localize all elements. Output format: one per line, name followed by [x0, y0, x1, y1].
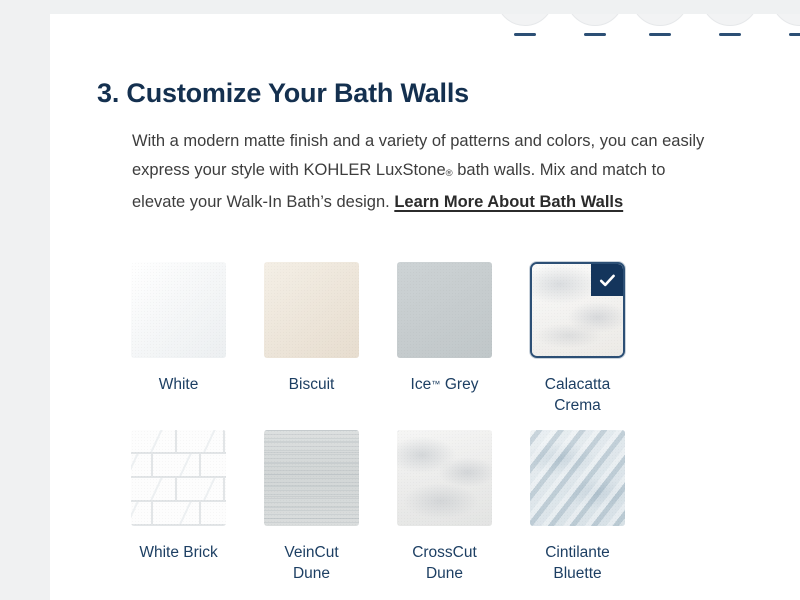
- swatch-row: WhiteBiscuitIce™ GreyCalacatta Crema: [131, 262, 721, 416]
- step-bubble-1-underline: [514, 33, 536, 36]
- swatch-label-veincut-dune: VeinCut Dune: [264, 542, 359, 584]
- swatch-label-white-brick: White Brick: [131, 542, 226, 563]
- swatch-label-biscuit: Biscuit: [264, 374, 359, 395]
- brick-row: [131, 478, 226, 500]
- page-title: 3. Customize Your Bath Walls: [97, 76, 469, 110]
- registered-trademark-symbol: ®: [446, 168, 453, 179]
- swatch-label-main-biscuit: Biscuit: [289, 376, 335, 393]
- swatch-option-calacatta-crema[interactable]: Calacatta Crema: [530, 262, 625, 416]
- section-description: With a modern matte finish and a variety…: [132, 127, 712, 217]
- swatch-tile-white-brick: [131, 430, 226, 526]
- swatch-option-white[interactable]: White: [131, 262, 226, 416]
- swatch-option-biscuit[interactable]: Biscuit: [264, 262, 359, 416]
- swatch-label-cintilante-bluette: Cintilante Bluette: [530, 542, 625, 584]
- swatch-tile-wrap-white-brick: [131, 430, 226, 526]
- brick-row: [131, 430, 226, 452]
- swatch-option-cintilante-bluette[interactable]: Cintilante Bluette: [530, 430, 625, 584]
- step-bubble-2-underline: [584, 33, 606, 36]
- step-bubble-2[interactable]: [566, 14, 624, 26]
- brick-row: [131, 502, 226, 524]
- step-progress-bubbles: [100, 14, 800, 36]
- swatch-tile-wrap-white: [131, 262, 226, 358]
- swatch-label-suffix-cintilante-bluette: Bluette: [553, 565, 601, 582]
- swatch-option-crosscut-dune[interactable]: CrossCut Dune: [397, 430, 492, 584]
- swatch-label-suffix-calacatta-crema: Crema: [554, 397, 601, 414]
- swatch-label-suffix-white-brick: Brick: [179, 544, 218, 561]
- swatch-option-veincut-dune[interactable]: VeinCut Dune: [264, 430, 359, 584]
- swatch-label-main-ice-grey: Ice: [411, 376, 432, 393]
- swatch-tile-wrap-crosscut-dune: [397, 430, 492, 526]
- swatch-tile-white: [131, 262, 226, 358]
- brick-rows-white-brick: [131, 430, 226, 526]
- swatch-row: White BrickVeinCut DuneCrossCut DuneCint…: [131, 430, 721, 584]
- swatch-tile-wrap-biscuit: [264, 262, 359, 358]
- swatch-label-crosscut-dune: CrossCut Dune: [397, 542, 492, 584]
- page-left-gutter: [0, 0, 50, 600]
- swatch-label-main-crosscut-dune: CrossCut: [412, 544, 477, 561]
- swatch-label-main-white: White: [159, 376, 199, 393]
- swatch-option-white-brick[interactable]: White Brick: [131, 430, 226, 584]
- swatch-tile-wrap-veincut-dune: [264, 430, 359, 526]
- swatch-label-main-cintilante-bluette: Cintilante: [545, 544, 610, 561]
- step-bubble-1[interactable]: [496, 14, 554, 26]
- swatch-tile-crosscut-dune: [397, 430, 492, 526]
- swatch-texture-veincut-dune: [264, 430, 359, 526]
- learn-more-about-bath-walls-link[interactable]: Learn More About Bath Walls: [394, 193, 623, 211]
- swatch-label-ice-grey: Ice™ Grey: [397, 374, 492, 395]
- swatch-label-white: White: [131, 374, 226, 395]
- swatch-label-calacatta-crema: Calacatta Crema: [530, 374, 625, 416]
- step-bubble-3-underline: [649, 33, 671, 36]
- walk-in-bath-configurator-screen: 3. Customize Your Bath Walls With a mode…: [0, 0, 800, 600]
- swatch-label-suffix-veincut-dune: Dune: [293, 565, 330, 582]
- swatch-label-main-calacatta-crema: Calacatta: [545, 376, 610, 393]
- swatch-tile-wrap-ice-grey: [397, 262, 492, 358]
- swatch-texture-ice-grey: [397, 262, 492, 358]
- brick-row: [131, 454, 226, 476]
- swatch-tile-wrap-calacatta-crema: [530, 262, 625, 358]
- check-icon: [591, 264, 623, 296]
- step-bubble-5[interactable]: [771, 14, 800, 26]
- swatch-label-main-white-brick: White: [139, 544, 179, 561]
- swatch-label-suffix-ice-grey: Grey: [441, 376, 479, 393]
- step-bubble-3[interactable]: [631, 14, 689, 26]
- swatch-tile-veincut-dune: [264, 430, 359, 526]
- swatch-tile-biscuit: [264, 262, 359, 358]
- swatch-tile-ice-grey: [397, 262, 492, 358]
- swatch-tile-wrap-cintilante-bluette: [530, 430, 625, 526]
- swatch-texture-biscuit: [264, 262, 359, 358]
- trademark-symbol-ice-grey: ™: [431, 379, 440, 389]
- step-bubble-4-underline: [719, 33, 741, 36]
- swatch-texture-cintilante-bluette: [530, 430, 625, 526]
- content-card: 3. Customize Your Bath Walls With a mode…: [50, 14, 800, 600]
- bath-wall-swatch-grid: WhiteBiscuitIce™ GreyCalacatta CremaWhit…: [131, 262, 721, 598]
- swatch-label-main-veincut-dune: VeinCut: [284, 544, 338, 561]
- step-bubble-4[interactable]: [701, 14, 759, 26]
- swatch-label-suffix-crosscut-dune: Dune: [426, 565, 463, 582]
- swatch-texture-white: [131, 262, 226, 358]
- swatch-option-ice-grey[interactable]: Ice™ Grey: [397, 262, 492, 416]
- step-bubble-5-underline: [789, 33, 800, 36]
- swatch-texture-crosscut-dune: [397, 430, 492, 526]
- swatch-tile-cintilante-bluette: [530, 430, 625, 526]
